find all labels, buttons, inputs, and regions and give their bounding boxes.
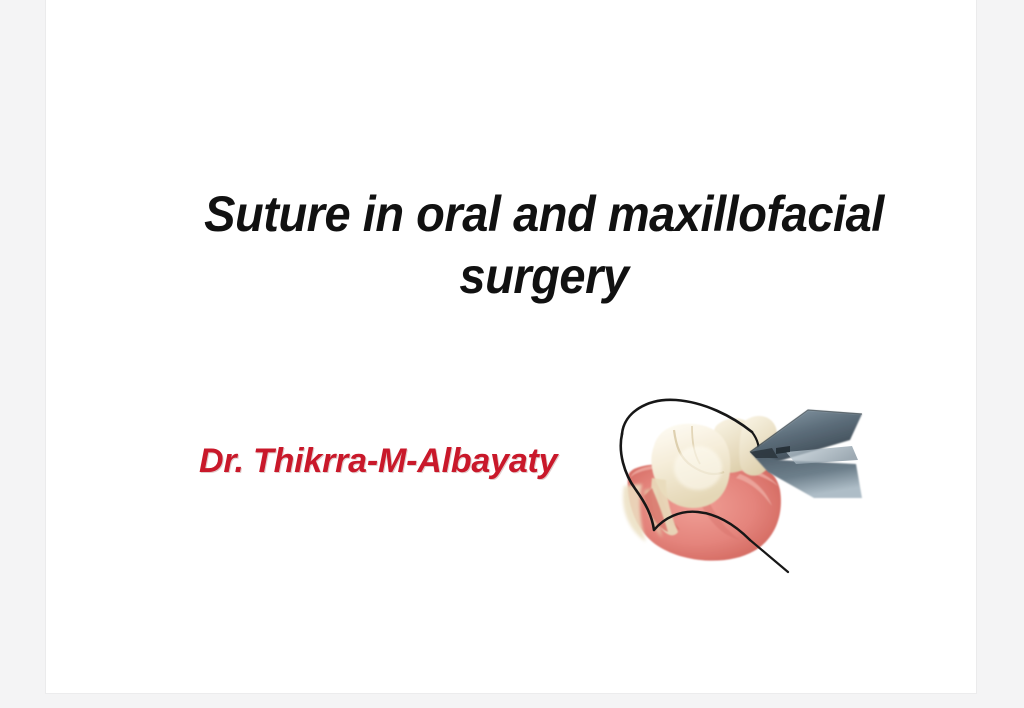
slide-left-edge: [45, 0, 46, 694]
title-line-2: surgery: [145, 245, 942, 307]
dental-suture-illustration: [600, 390, 870, 575]
slide-title: Suture in oral and maxillofacial surgery: [120, 183, 968, 307]
title-line-1: Suture in oral and maxillofacial: [145, 183, 942, 245]
author-name: Dr. Thikrra-M-Albayaty: [199, 442, 557, 480]
slide-root: Suture in oral and maxillofacial surgery…: [0, 0, 1024, 708]
slide-bottom-edge: [45, 693, 977, 694]
author-block: Dr. Thikrra-M-Albayaty: [199, 440, 619, 482]
slide-surface: [46, 0, 976, 694]
slide-right-edge: [976, 0, 977, 694]
